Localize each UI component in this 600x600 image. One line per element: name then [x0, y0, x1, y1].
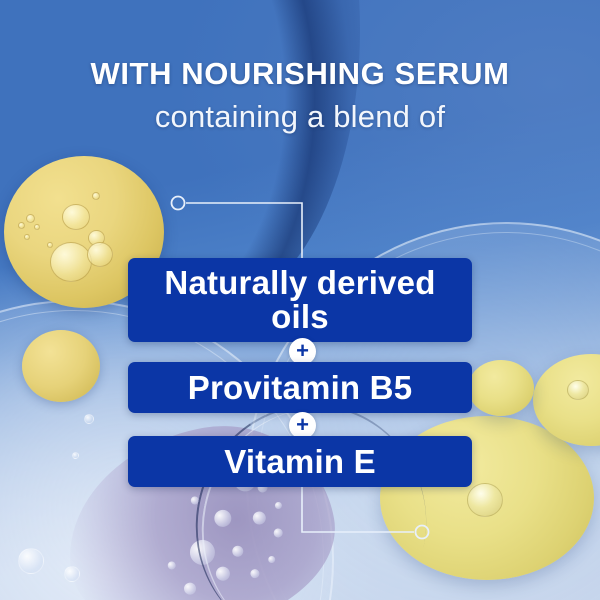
plus-separator-icon: +	[289, 412, 316, 439]
page-subtitle: containing a blend of	[0, 99, 600, 135]
oil-inner-bubble	[18, 222, 25, 229]
oil-inner-bubble	[87, 242, 113, 267]
stray-bubble	[84, 414, 94, 424]
plus-separator-icon: +	[289, 338, 316, 365]
oil-blob-small	[468, 360, 534, 416]
oil-inner-bubble	[50, 242, 92, 282]
oil-blob-medium-core	[567, 380, 589, 400]
oil-inner-bubble	[24, 234, 30, 240]
foam-bubble	[183, 582, 197, 596]
oil-inner-bubble	[34, 224, 40, 230]
oil-inner-bubble	[47, 242, 53, 248]
ingredient-box-naturally-derived-oils: Naturally derived oils	[128, 258, 472, 342]
stray-bubble	[18, 548, 44, 574]
ingredient-box-provitamin-b5: Provitamin B5	[128, 362, 472, 413]
foam-bubble	[167, 561, 176, 570]
oil-inner-bubble	[92, 192, 100, 200]
stray-bubble	[64, 566, 80, 582]
ingredient-box-vitamin-e: Vitamin E	[128, 436, 472, 487]
oil-blob-large-core	[467, 483, 503, 517]
oil-inner-bubble	[26, 214, 35, 223]
page-title: WITH NOURISHING SERUM	[0, 58, 600, 91]
oil-droplet-small	[22, 330, 100, 402]
oil-inner-bubble	[62, 204, 90, 230]
stray-bubble	[72, 452, 79, 459]
promo-graphic: WITH NOURISHING SERUM containing a blend…	[0, 0, 600, 600]
